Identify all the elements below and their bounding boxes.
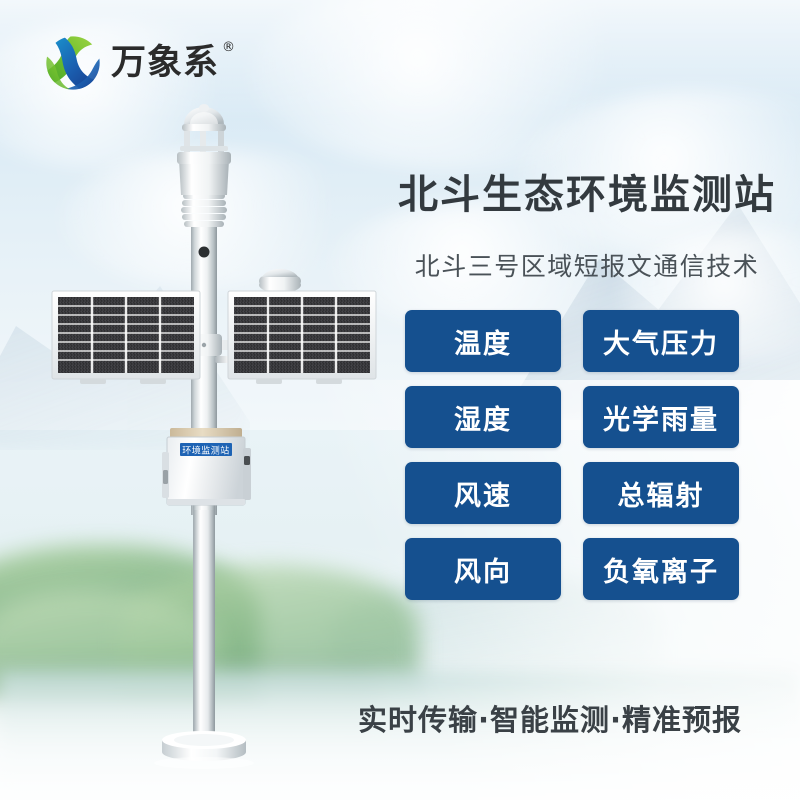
sensor-port-icon — [199, 247, 210, 258]
feature-tag-negative-oxygen-ion[interactable]: 负氧离子 — [583, 538, 739, 600]
feature-tag-list: 温度 大气压力 湿度 光学雨量 风速 总辐射 风向 负氧离子 — [405, 310, 745, 600]
feature-tag-total-radiation[interactable]: 总辐射 — [583, 462, 739, 524]
base-flange-icon — [162, 731, 246, 761]
cabinet-label-text: 环境监测站 — [182, 445, 230, 457]
ultrasonic-weather-sensor-icon — [177, 104, 231, 227]
page-tagline: 实时传输·智能监测·精准预报 — [340, 697, 760, 739]
feature-tag-humidity[interactable]: 湿度 — [405, 386, 561, 448]
poster-canvas: 万象系 ® — [0, 0, 800, 800]
weather-station-illustration: 环境监测站 — [0, 0, 400, 800]
page-title: 北斗生态环境监测站 — [394, 172, 780, 219]
feature-tag-optical-rain[interactable]: 光学雨量 — [583, 386, 739, 448]
feature-tag-wind-direction[interactable]: 风向 — [405, 538, 561, 600]
feature-tag-temperature[interactable]: 温度 — [405, 310, 561, 372]
page-subtitle: 北斗三号区域短报文通信技术 — [394, 247, 780, 283]
feature-tag-wind-speed[interactable]: 风速 — [405, 462, 561, 524]
feature-tag-air-pressure[interactable]: 大气压力 — [583, 310, 739, 372]
solar-panel-right-icon — [228, 291, 376, 384]
control-cabinet-icon: 环境监测站 — [162, 428, 251, 505]
solar-panel-left-icon — [52, 291, 200, 384]
